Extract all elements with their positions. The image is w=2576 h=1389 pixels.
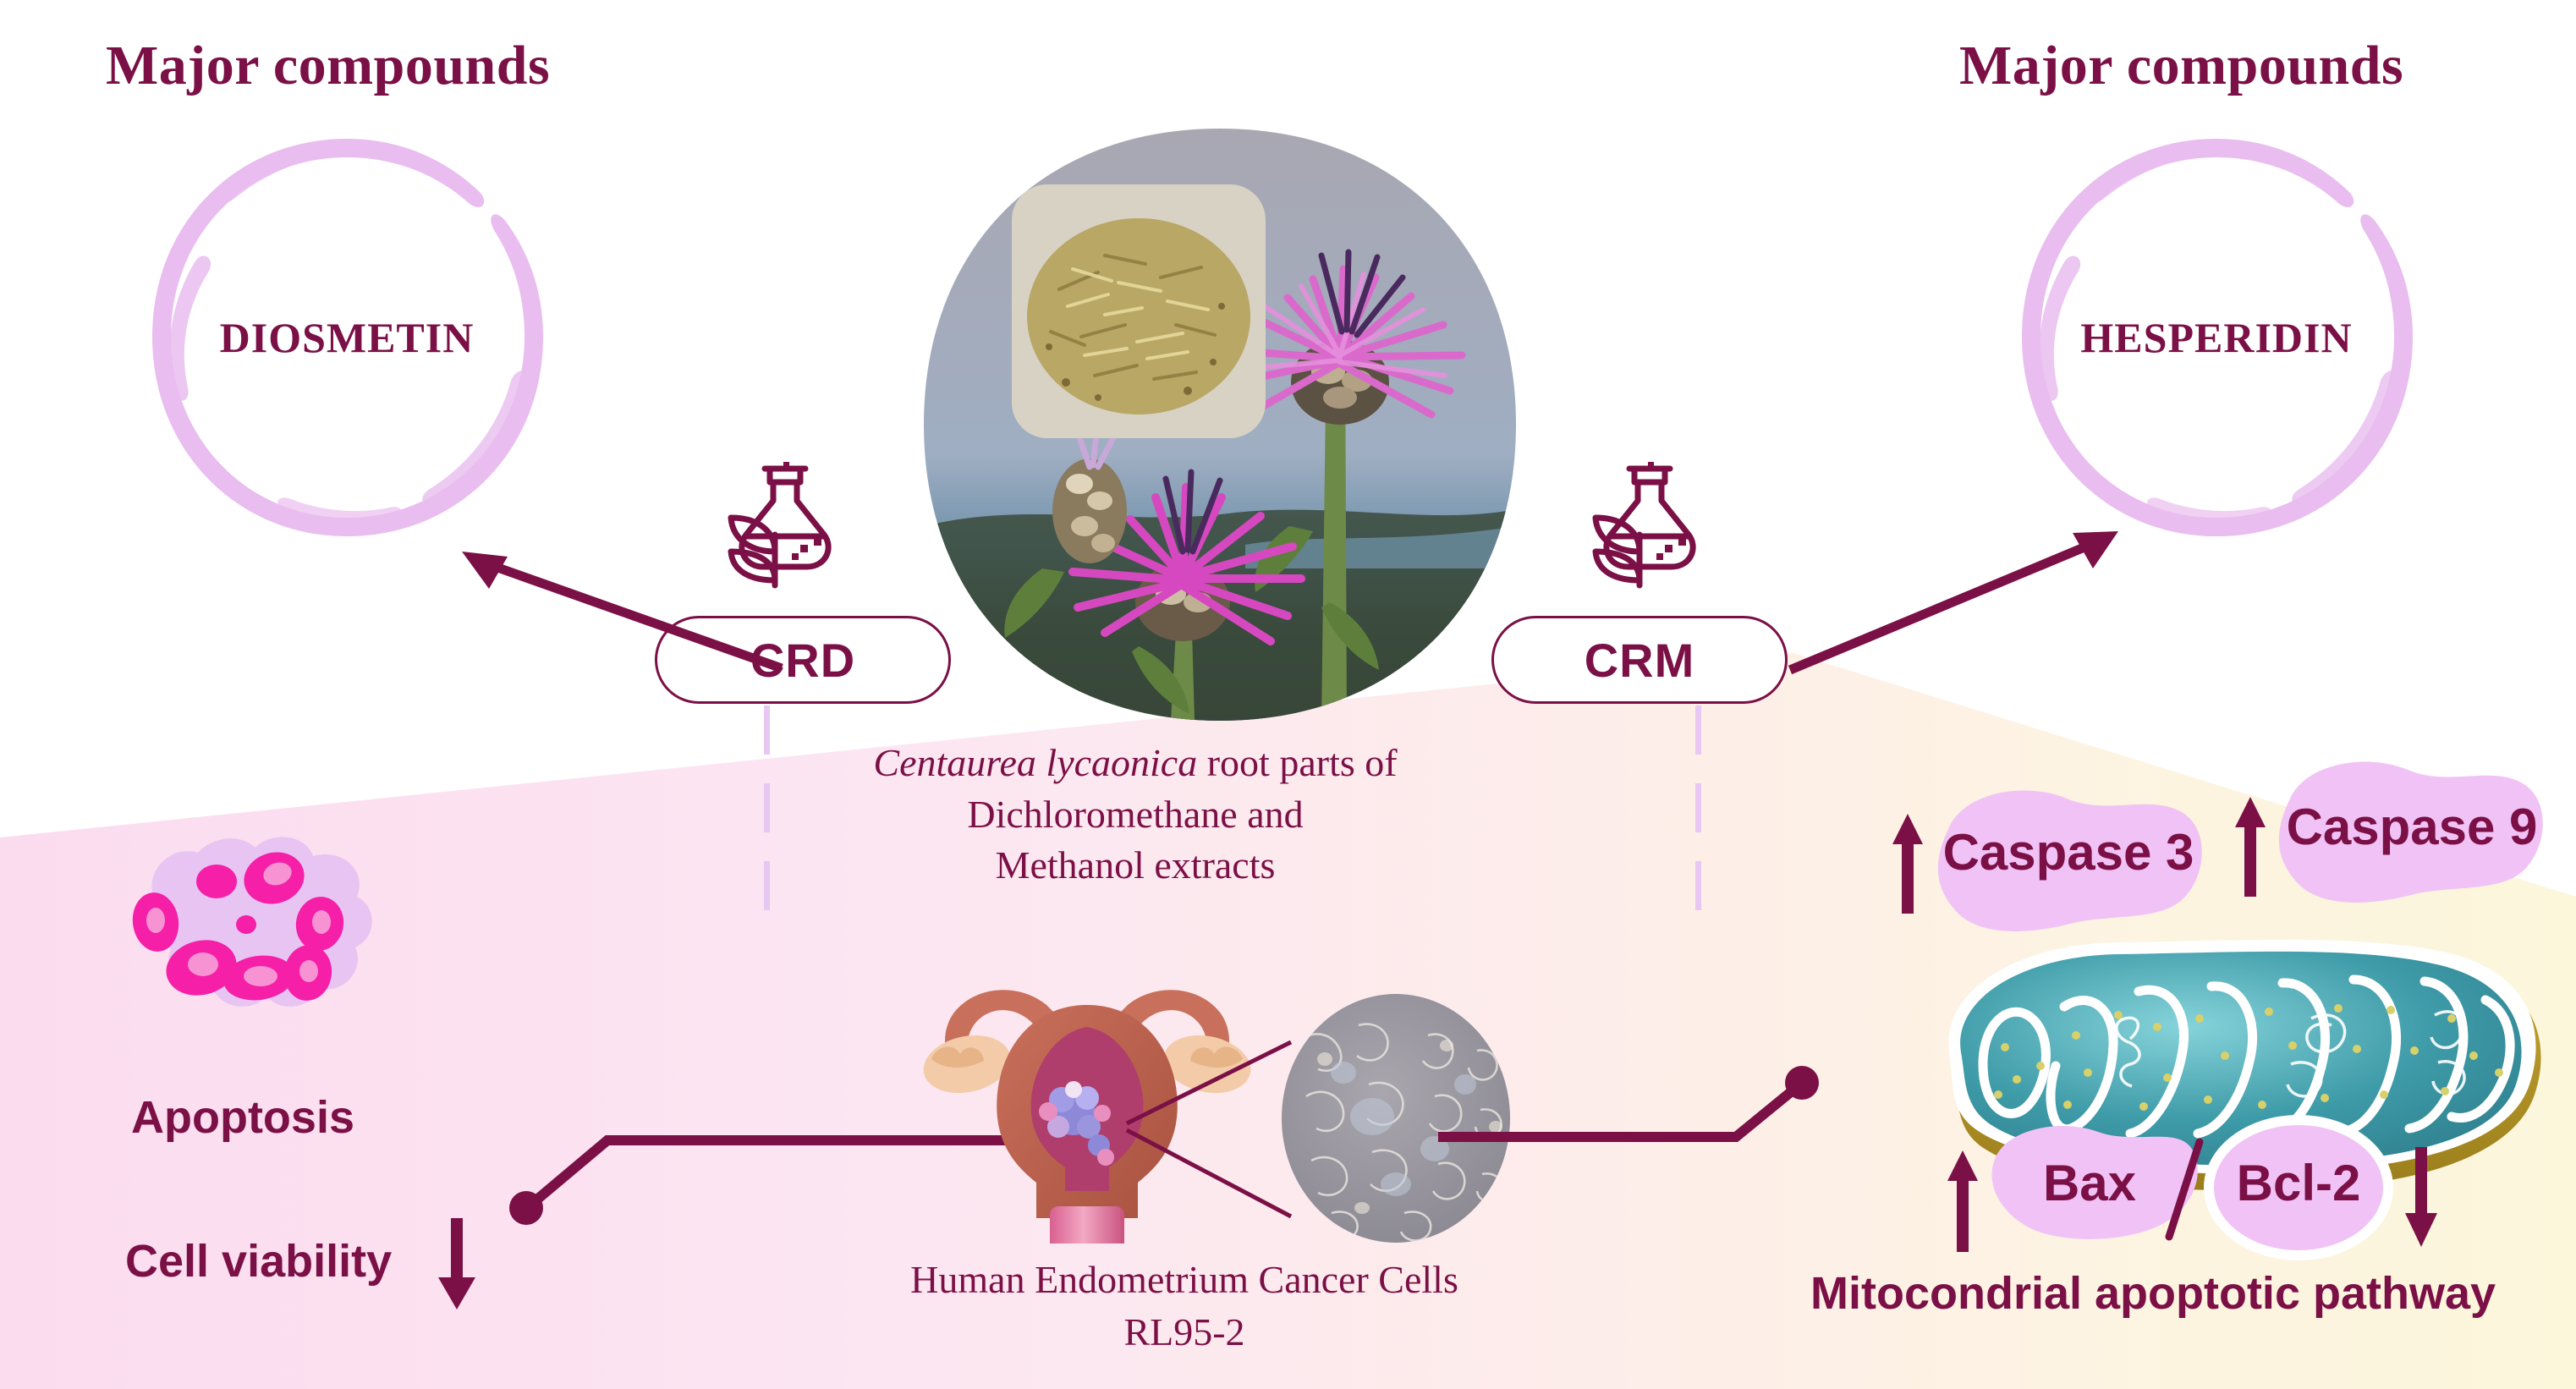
plant-caption-line2: Dichloromethane and <box>755 789 1516 841</box>
cell-viability-down-arrow-icon <box>431 1218 482 1311</box>
left-compound-name: DIOSMETIN <box>135 313 558 362</box>
plant-species-name: Centaurea lycaonica <box>873 741 1197 784</box>
caspase-3-up-arrow-icon <box>1891 812 1925 914</box>
right-compound-name: HESPERIDIN <box>2005 313 2428 362</box>
graphical-abstract-canvas: Major compounds DIOSMETIN Major compound… <box>0 0 2576 1389</box>
crm-label: CRM <box>1585 633 1695 688</box>
right-major-compounds-heading: Major compounds <box>1959 34 2403 98</box>
arrow-crd-to-diosmetin <box>440 533 795 685</box>
micrograph-leader-lines <box>1117 998 1311 1252</box>
apoptosis-label: Apoptosis <box>131 1091 354 1144</box>
flask-leaf-icon-right <box>1590 457 1709 592</box>
bax-up-arrow-icon <box>1946 1150 1980 1252</box>
connector-dot-left <box>509 1191 543 1225</box>
cells-caption-line2: RL95-2 <box>846 1306 1523 1359</box>
arrow-crm-to-hesperidin <box>1775 516 2147 685</box>
left-major-compounds-heading: Major compounds <box>106 34 550 98</box>
cell-viability-label: Cell viability <box>125 1235 392 1287</box>
apoptotic-cells-icon <box>93 829 431 1083</box>
cells-caption-line1: Human Endometrium Cancer Cells <box>846 1254 1523 1306</box>
right-effects-connector <box>1438 1049 1861 1184</box>
caspase-9-up-arrow-icon <box>2233 795 2267 897</box>
cells-caption: Human Endometrium Cancer Cells RL95-2 <box>846 1254 1523 1359</box>
bcl2-label: Bcl-2 <box>2210 1149 2387 1216</box>
plant-photograph <box>924 129 1516 721</box>
plant-caption: Centaurea lycaonica root parts of Dichlo… <box>755 738 1516 892</box>
mitochondrial-pathway-label: Mitocondrial apoptotic pathway <box>1810 1267 2496 1320</box>
bcl2-down-arrow-icon <box>2403 1147 2440 1249</box>
connector-dot-right <box>1785 1066 1819 1100</box>
caspase-9-label: Caspase 9 <box>2281 788 2543 865</box>
crm-connector-dashed-line <box>1695 705 1701 934</box>
caspase-3-label: Caspase 3 <box>1937 814 2200 890</box>
plant-caption-line1-rest: root parts of <box>1197 741 1397 784</box>
plant-caption-line3: Methanol extracts <box>755 840 1516 892</box>
crm-extract-badge[interactable]: CRM <box>1491 616 1788 704</box>
